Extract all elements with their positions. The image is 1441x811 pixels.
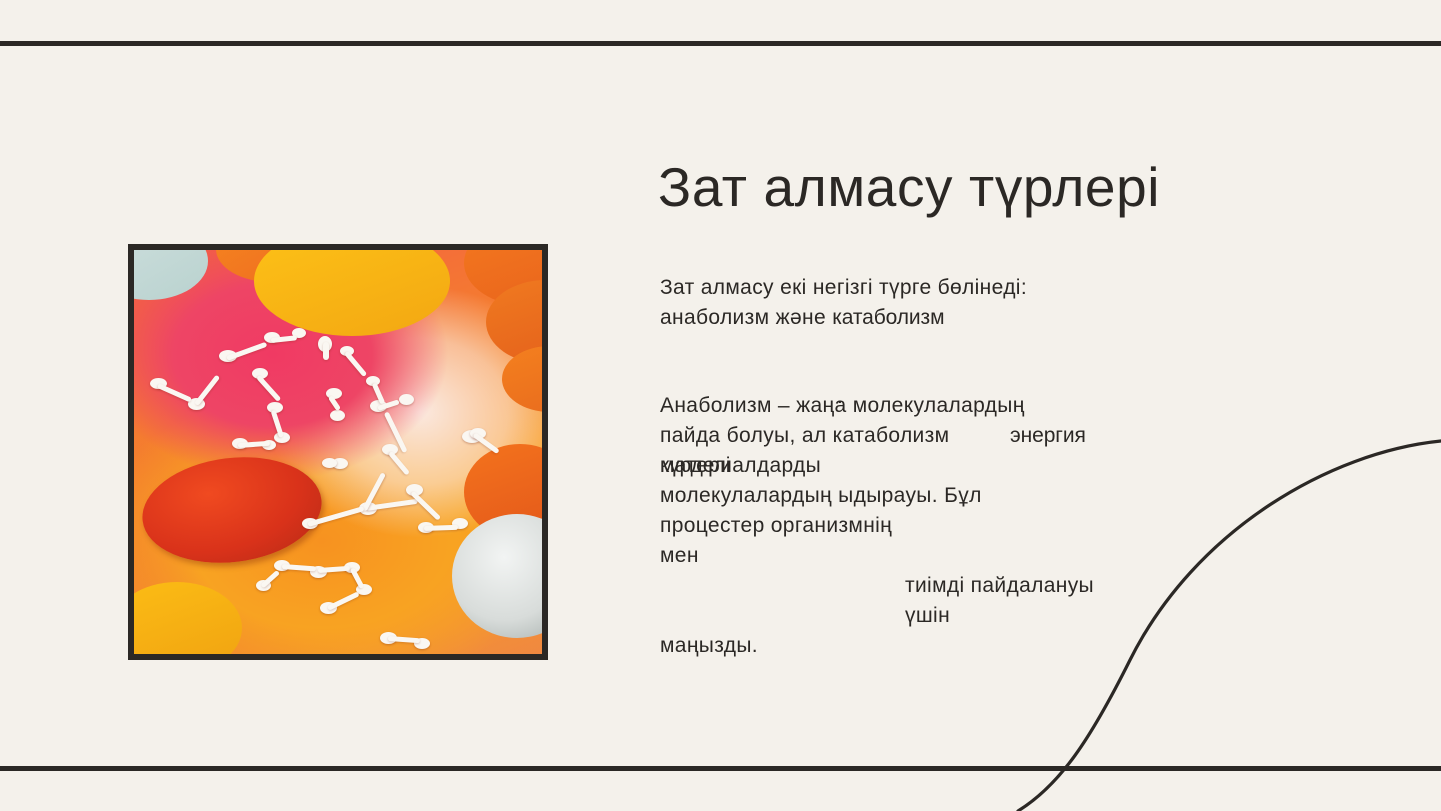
paragraph-intro: Зат алмасу екі негізгі түрге бөлінеді: а… — [660, 273, 1260, 333]
constellation-dot — [322, 458, 337, 468]
slide-canvas: Зат алмасу түрлері — [0, 0, 1441, 811]
definition-line-2: пайда болуы, ал катаболизм — [660, 424, 949, 447]
constellation-dot — [330, 410, 345, 421]
constellation-dot — [399, 394, 414, 405]
intro-line-2-term: катаболизм — [832, 306, 944, 329]
decorative-image — [128, 244, 548, 660]
body-text-block: Зат алмасу екі негізгі түрге бөлінеді: а… — [660, 273, 1260, 661]
overlay-text-energia: энергия — [1010, 421, 1086, 451]
definition-line-1: Анаболизм – жаңа молекулалардың — [660, 394, 1025, 417]
definition-line-9: маңызды. — [660, 634, 758, 657]
intro-line-1: Зат алмасу екі негізгі түрге бөлінеді: — [660, 276, 1027, 299]
definition-line-7: тиімді пайдалануы — [660, 574, 1094, 597]
definition-line-4: молекулалардың ыдырауы. Бұл — [660, 484, 982, 507]
overlay-text-kurdeli: күрделі — [660, 451, 730, 481]
top-divider-rule — [0, 41, 1441, 46]
intro-line-2-prefix: анаболизм және — [660, 306, 832, 329]
image-content — [134, 250, 542, 654]
paragraph-definition: Анаболизм – жаңа молекулалардың пайда бо… — [660, 391, 1260, 661]
constellation-link — [323, 342, 329, 360]
bottom-divider-rule — [0, 766, 1441, 771]
definition-line-6: мен — [660, 544, 699, 567]
page-title: Зат алмасу түрлері — [658, 157, 1378, 219]
definition-lines: Анаболизм – жаңа молекулалардың пайда бо… — [660, 391, 1260, 661]
definition-line-8: үшін — [660, 604, 950, 627]
definition-line-5: процестер организмнің — [660, 514, 892, 537]
